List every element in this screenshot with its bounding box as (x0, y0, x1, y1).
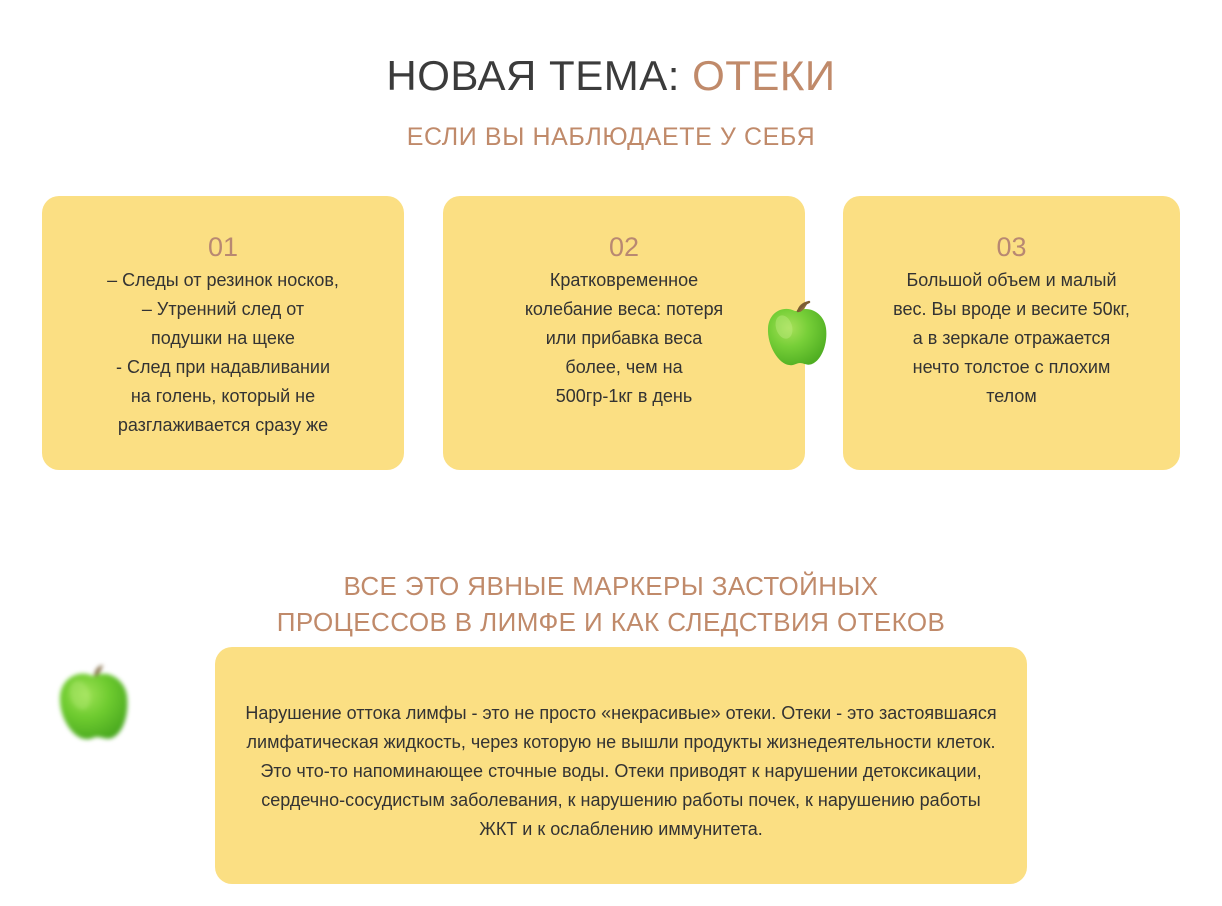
explanation-panel: Нарушение оттока лимфы - это не просто «… (215, 647, 1027, 884)
page-title-main: НОВАЯ ТЕМА: (386, 52, 692, 99)
slide-root: НОВАЯ ТЕМА: ОТЕКИ ЕСЛИ ВЫ НАБЛЮДАЕТЕ У С… (0, 0, 1222, 906)
card-number-01: 01 (60, 230, 386, 264)
symptom-cards-row: 01 – Следы от резинок носков, – Утренний… (42, 196, 1180, 470)
symptom-card-01: 01 – Следы от резинок носков, – Утренний… (42, 196, 404, 470)
card-number-03: 03 (861, 230, 1162, 264)
green-apple-icon (762, 296, 830, 368)
symptom-card-03: 03 Большой объем и малый вес. Вы вроде и… (843, 196, 1180, 470)
symptom-card-02: 02 Кратковременное колебание веса: потер… (443, 196, 805, 470)
card-text-03: Большой объем и малый вес. Вы вроде и ве… (861, 266, 1162, 411)
page-title: НОВАЯ ТЕМА: ОТЕКИ (0, 50, 1222, 102)
card-text-01: – Следы от резинок носков, – Утренний сл… (60, 266, 386, 440)
card-number-02: 02 (461, 230, 787, 264)
green-apple-blurred-icon (52, 660, 134, 746)
section-heading: ВСЕ ЭТО ЯВНЫЕ МАРКЕРЫ ЗАСТОЙНЫХ ПРОЦЕССО… (0, 568, 1222, 640)
card-text-02: Кратковременное колебание веса: потеря и… (461, 266, 787, 411)
page-title-accent: ОТЕКИ (692, 52, 836, 99)
page-subtitle: ЕСЛИ ВЫ НАБЛЮДАЕТЕ У СЕБЯ (0, 121, 1222, 153)
explanation-text: Нарушение оттока лимфы - это не просто «… (243, 699, 999, 844)
